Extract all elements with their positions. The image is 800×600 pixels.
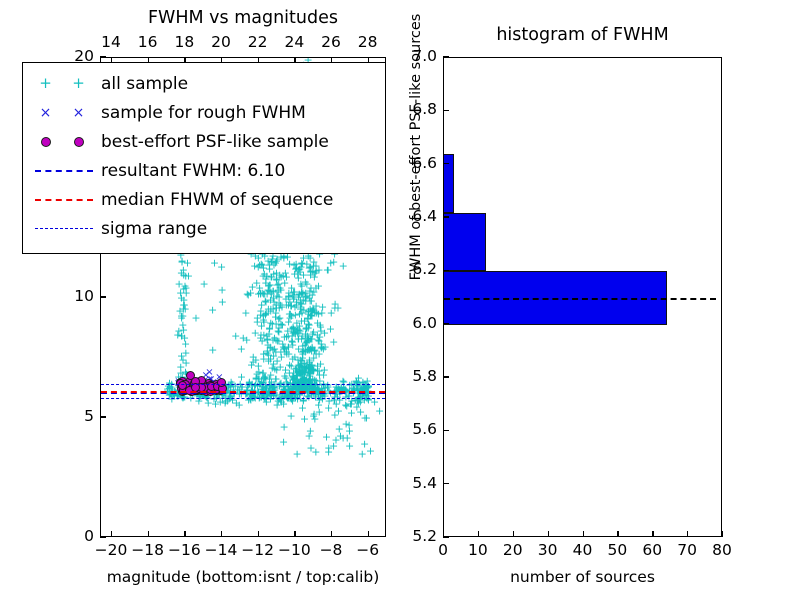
data-point: + (293, 370, 302, 381)
data-point: + (287, 360, 296, 371)
data-point: + (208, 345, 217, 356)
data-point: + (303, 312, 312, 323)
data-point: + (305, 373, 314, 384)
data-point: + (336, 430, 345, 441)
data-point: + (256, 288, 265, 299)
data-point: + (225, 393, 234, 404)
circle-marker-icon (74, 137, 84, 147)
data-point: + (289, 323, 298, 334)
data-point: + (293, 354, 302, 365)
data-point: + (313, 317, 322, 328)
data-point: + (304, 344, 313, 355)
data-point: + (262, 330, 271, 341)
data-point: + (310, 271, 319, 282)
data-point: + (298, 348, 307, 359)
data-point: + (304, 323, 313, 334)
axis-tick (443, 483, 449, 484)
data-point: + (253, 317, 262, 328)
data-point: + (315, 348, 324, 359)
data-point: + (297, 286, 306, 297)
data-point: + (306, 311, 315, 322)
data-point: + (276, 361, 285, 372)
data-point: + (260, 373, 269, 384)
guide-line (101, 398, 385, 399)
data-point: + (244, 394, 253, 405)
data-point: + (262, 289, 271, 300)
data-point: + (291, 310, 300, 321)
plus-marker-icon: + (72, 76, 85, 91)
data-point: + (299, 253, 308, 264)
data-point: + (259, 311, 268, 322)
data-point: + (266, 380, 275, 391)
data-point: + (266, 370, 275, 381)
data-point: + (318, 302, 327, 313)
data-point: + (297, 280, 306, 291)
data-point: + (346, 398, 355, 409)
data-point: + (313, 329, 322, 340)
circle-marker-icon (41, 137, 51, 147)
data-point: + (296, 267, 305, 278)
data-point: + (263, 345, 272, 356)
data-point: + (287, 324, 296, 335)
data-point: + (294, 272, 303, 283)
data-point: + (297, 381, 306, 392)
data-point: + (307, 334, 316, 345)
data-point: + (281, 364, 290, 375)
data-point: + (246, 287, 255, 298)
data-point: + (350, 385, 359, 396)
guide-line (101, 391, 385, 393)
data-point: + (300, 413, 309, 424)
data-point: + (306, 360, 315, 371)
data-point: + (265, 264, 274, 275)
data-point: + (296, 366, 305, 377)
data-point: + (311, 300, 320, 311)
data-point: + (299, 373, 308, 384)
data-point: + (181, 304, 190, 315)
data-point: + (271, 312, 280, 323)
data-point: + (311, 261, 320, 272)
data-point: + (274, 326, 283, 337)
data-point: + (232, 397, 241, 408)
data-point: + (315, 331, 324, 342)
data-point: + (261, 309, 270, 320)
data-point: + (309, 260, 318, 271)
data-point: + (301, 333, 310, 344)
legend-item[interactable]: best-effort PSF-like sample (29, 127, 375, 156)
data-point: + (305, 377, 314, 388)
data-point: + (300, 369, 309, 380)
data-point: + (296, 380, 305, 391)
data-point: + (284, 342, 293, 353)
data-point: + (270, 384, 279, 395)
tick-label: 5.8 (387, 367, 437, 385)
data-point: + (300, 357, 309, 368)
data-point: + (297, 258, 306, 269)
data-point: + (278, 339, 287, 350)
data-point: + (324, 446, 333, 457)
data-point: + (311, 348, 320, 359)
data-point: + (345, 440, 354, 451)
data-point: + (299, 305, 308, 316)
data-point: + (305, 371, 314, 382)
data-point: + (287, 393, 296, 404)
data-point: + (315, 395, 324, 406)
data-point: + (296, 354, 305, 365)
data-point: + (306, 262, 315, 273)
data-point: + (292, 317, 301, 328)
data-point: + (319, 369, 328, 380)
tick-label: 22 (238, 33, 278, 51)
data-point: + (302, 337, 311, 348)
data-point: + (295, 290, 304, 301)
data-point: + (313, 361, 322, 372)
data-point: + (301, 376, 310, 387)
data-point: + (231, 331, 240, 342)
data-point: + (286, 300, 295, 311)
data-point: + (266, 257, 275, 268)
data-point: + (354, 398, 363, 409)
data-point: + (177, 350, 186, 361)
data-point: + (302, 362, 311, 373)
data-point: + (277, 302, 286, 313)
data-point: + (290, 374, 299, 385)
data-point: + (251, 328, 260, 339)
data-point: + (290, 327, 299, 338)
data-point: + (254, 288, 263, 299)
data-point: + (305, 262, 314, 273)
data-point: + (264, 304, 273, 315)
data-point: + (339, 261, 348, 272)
data-point: + (266, 317, 275, 328)
data-point: + (271, 258, 280, 269)
data-point: + (294, 324, 303, 335)
data-point: + (231, 380, 240, 391)
data-point: + (279, 384, 288, 395)
data-point: + (294, 265, 303, 276)
data-point: + (310, 345, 319, 356)
data-point: + (248, 281, 257, 292)
data-point: + (208, 305, 217, 316)
data-point: + (280, 371, 289, 382)
data-point: + (307, 384, 316, 395)
data-point: + (295, 326, 304, 337)
legend-item-label: median FHWM of sequence (95, 190, 333, 210)
data-point: + (304, 307, 313, 318)
data-point: + (308, 341, 317, 352)
data-point: + (296, 303, 305, 314)
legend-item[interactable]: resultant FWHM: 6.10 (29, 156, 375, 185)
data-point: + (288, 370, 297, 381)
data-point: + (257, 321, 266, 332)
data-point: + (269, 269, 278, 280)
axis-tick (148, 531, 149, 537)
data-point: + (308, 267, 317, 278)
data-point: + (354, 373, 363, 384)
data-point: + (307, 346, 316, 357)
data-point: + (288, 374, 297, 385)
data-point: + (263, 334, 272, 345)
data-point: + (334, 405, 343, 416)
line-sample-icon (35, 228, 93, 229)
data-point: + (329, 336, 338, 347)
axis-tick (443, 163, 449, 164)
data-point: + (308, 373, 317, 384)
data-point: + (303, 314, 312, 325)
data-point: + (324, 265, 333, 276)
data-point: + (289, 324, 298, 335)
data-point: + (351, 395, 360, 406)
data-point: + (275, 269, 284, 280)
data-point: + (176, 288, 185, 299)
data-point: + (228, 394, 237, 405)
data-point: + (275, 283, 284, 294)
data-point: + (323, 264, 332, 275)
data-point: + (289, 287, 298, 298)
data-point: + (302, 278, 311, 289)
data-point: + (270, 363, 279, 374)
data-point: + (296, 368, 305, 379)
data-point: + (267, 289, 276, 300)
data-point: + (264, 349, 273, 360)
data-point: + (317, 339, 326, 350)
data-point: + (305, 344, 314, 355)
data-point: + (180, 281, 189, 292)
data-point: + (266, 305, 275, 316)
data-point: + (271, 299, 280, 310)
legend-item[interactable]: median FHWM of sequence (29, 185, 375, 214)
data-point: + (274, 314, 283, 325)
right-panel-ylabel: FWHM of best-effort PSF-like sources (408, 0, 424, 297)
data-point: + (270, 333, 279, 344)
legend-item[interactable]: ++all sample (29, 69, 375, 98)
data-point: + (353, 380, 362, 391)
data-point: + (282, 272, 291, 283)
data-point: + (306, 442, 315, 453)
data-point: + (285, 258, 294, 269)
data-point: + (245, 377, 254, 388)
data-point: + (181, 339, 190, 350)
data-point: + (281, 268, 290, 279)
data-point: + (360, 413, 369, 424)
axis-tick (583, 531, 584, 537)
data-point: + (301, 363, 310, 374)
data-point: + (264, 329, 273, 340)
data-point: + (244, 380, 253, 391)
data-point: + (181, 357, 190, 368)
data-point: + (268, 345, 277, 356)
data-point: + (252, 278, 261, 289)
data-point: + (294, 377, 303, 388)
data-point: + (298, 381, 307, 392)
data-point: + (268, 319, 277, 330)
data-point: + (290, 302, 299, 313)
data-point: + (300, 365, 309, 376)
tick-label: 5.6 (387, 420, 437, 438)
legend-item[interactable]: ××sample for rough FWHM (29, 98, 375, 127)
data-point: + (315, 370, 324, 381)
data-point: + (291, 381, 300, 392)
data-point: + (177, 311, 186, 322)
data-point: + (290, 374, 299, 385)
data-point: + (306, 363, 315, 374)
data-point: + (227, 376, 236, 387)
data-point: + (298, 346, 307, 357)
data-point: + (301, 380, 310, 391)
data-point: + (266, 343, 275, 354)
data-point: + (291, 364, 300, 375)
tick-label: 16 (128, 33, 168, 51)
data-point: + (261, 295, 270, 306)
data-point: + (294, 292, 303, 303)
data-point: + (327, 308, 336, 319)
data-point: + (274, 279, 283, 290)
data-point: + (284, 380, 293, 391)
data-point: + (254, 374, 263, 385)
data-point: + (272, 302, 281, 313)
data-point: + (329, 440, 338, 451)
data-point: + (364, 394, 373, 405)
data-point: + (299, 345, 308, 356)
legend-item-label: sample for rough FWHM (95, 103, 306, 123)
data-point: + (317, 342, 326, 353)
axis-tick (100, 416, 106, 417)
axis-tick (722, 531, 723, 537)
data-point: + (279, 271, 288, 282)
data-point: + (287, 310, 296, 321)
data-point: + (273, 336, 282, 347)
data-point: + (366, 445, 375, 456)
data-point: + (312, 308, 321, 319)
data-point: + (265, 260, 274, 271)
data-point: + (261, 273, 270, 284)
axis-tick (331, 531, 332, 537)
data-point: + (290, 352, 299, 363)
data-point: + (275, 393, 284, 404)
axis-tick (368, 531, 369, 537)
data-point: + (305, 293, 314, 304)
data-point: + (293, 380, 302, 391)
data-point: + (235, 399, 244, 410)
data-point: + (299, 269, 308, 280)
data-point: + (360, 439, 369, 450)
data-point: + (263, 339, 272, 350)
data-point: + (260, 269, 269, 280)
data-point: + (280, 343, 289, 354)
data-point: + (265, 380, 274, 391)
data-point: + (352, 401, 361, 412)
data-point: + (307, 366, 316, 377)
data-point: + (249, 357, 258, 368)
data-point: + (265, 380, 274, 391)
data-point: + (279, 436, 288, 447)
data-point: + (288, 336, 297, 347)
data-point: + (352, 377, 361, 388)
tick-label: 5.4 (387, 474, 437, 492)
data-point: + (265, 286, 274, 297)
data-point: + (314, 366, 323, 377)
data-point: + (251, 355, 260, 366)
data-point: + (259, 349, 268, 360)
data-point: + (167, 393, 176, 404)
data-point: + (266, 272, 275, 283)
data-point: + (266, 303, 275, 314)
data-point: + (273, 279, 282, 290)
data-point: + (165, 378, 174, 389)
axis-tick (443, 110, 449, 111)
data-point: + (296, 304, 305, 315)
data-point: + (251, 374, 260, 385)
data-point: + (320, 364, 329, 375)
data-point: + (297, 377, 306, 388)
data-point: + (285, 308, 294, 319)
legend-item[interactable]: sigma range (29, 214, 375, 243)
data-point: + (297, 362, 306, 373)
data-point: + (297, 288, 306, 299)
data-point: + (298, 363, 307, 374)
data-point: + (362, 412, 371, 423)
data-point: + (318, 394, 327, 405)
axis-tick (100, 536, 106, 537)
data-point: + (307, 334, 316, 345)
data-point: + (316, 322, 325, 333)
data-point: + (243, 289, 252, 300)
data-point: + (286, 308, 295, 319)
data-point: + (278, 319, 287, 330)
data-point: + (289, 372, 298, 383)
data-point: + (295, 263, 304, 274)
data-point: + (295, 309, 304, 320)
legend-item-label: all sample (95, 74, 188, 94)
data-point: + (298, 381, 307, 392)
data-point: + (249, 351, 258, 362)
data-point: + (292, 297, 301, 308)
data-point: + (273, 326, 282, 337)
data-point: + (305, 378, 314, 389)
data-point: + (293, 377, 302, 388)
data-point: + (306, 381, 315, 392)
data-point: + (289, 259, 298, 270)
data-point: + (294, 360, 303, 371)
data-point: + (255, 282, 264, 293)
data-point: + (314, 399, 323, 410)
tick-label: 0 (48, 527, 94, 545)
data-point: + (363, 393, 372, 404)
data-point: + (252, 368, 261, 379)
data-point: + (237, 372, 246, 383)
data-point: + (306, 270, 315, 281)
data-point: + (282, 346, 291, 357)
data-point: + (309, 409, 318, 420)
data-point: + (332, 398, 341, 409)
data-point: + (308, 306, 317, 317)
data-point: + (308, 364, 317, 375)
data-point: + (291, 328, 300, 339)
data-point: + (256, 309, 265, 320)
data-point: + (235, 385, 244, 396)
data-point: + (254, 361, 263, 372)
data-point: + (283, 326, 292, 337)
data-point: + (284, 331, 293, 342)
data-point: + (305, 253, 314, 264)
data-point: + (173, 330, 182, 341)
data-point: + (174, 325, 183, 336)
data-point: + (326, 257, 335, 268)
data-point: + (284, 341, 293, 352)
data-point: + (310, 413, 319, 424)
data-point: + (242, 334, 251, 345)
data-point: + (184, 270, 193, 281)
